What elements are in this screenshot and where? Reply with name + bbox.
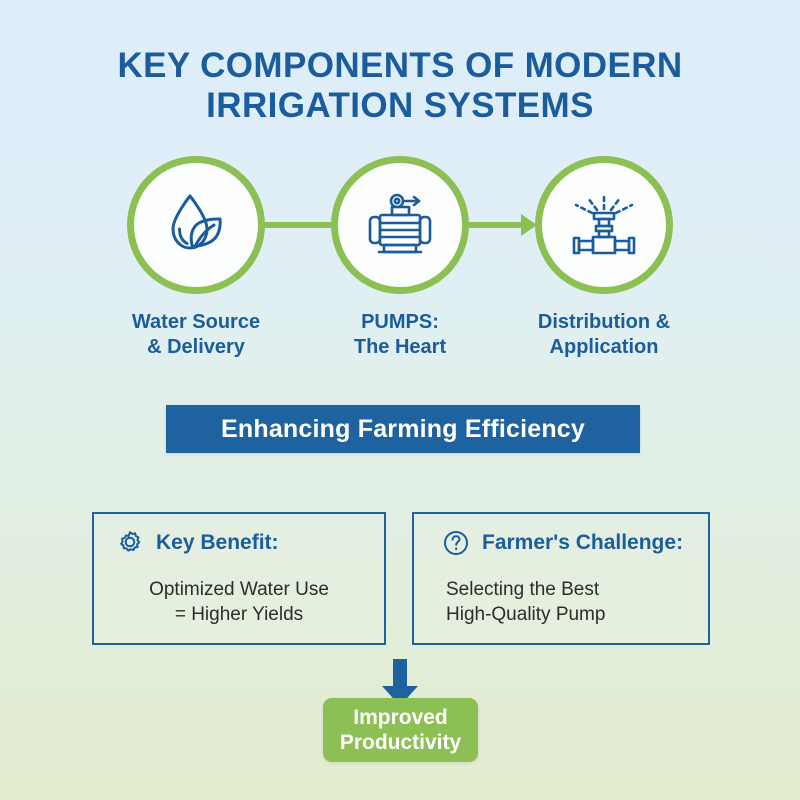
- flow-node-water-source[interactable]: [127, 156, 265, 294]
- flow-node-circle: [331, 156, 469, 294]
- page-title-line-1: KEY COMPONENTS OF MODERN: [0, 46, 800, 86]
- flow-node-pumps[interactable]: [331, 156, 469, 294]
- info-card-farmers-challenge: Farmer's Challenge: Selecting the Best H…: [412, 512, 710, 645]
- banner-text: Enhancing Farming Efficiency: [221, 415, 585, 444]
- flow-label-line-2: Application: [484, 335, 724, 360]
- card-body-line-2: High-Quality Pump: [446, 602, 708, 627]
- card-title: Key Benefit:: [156, 531, 279, 555]
- outcome-line-1: Improved: [353, 705, 448, 730]
- page-title-line-2: IRRIGATION SYSTEMS: [0, 86, 800, 126]
- question-mark-circle-icon: [442, 529, 470, 557]
- card-body-line-1: Optimized Water Use: [94, 577, 384, 602]
- card-body-line-1: Selecting the Best: [446, 577, 708, 602]
- gear-icon: [116, 529, 144, 557]
- flow-node-circle: [535, 156, 673, 294]
- outcome-line-2: Productivity: [340, 730, 461, 755]
- sprinkler-head-icon: [566, 189, 642, 261]
- infographic-canvas: KEY COMPONENTS OF MODERN IRRIGATION SYST…: [0, 0, 800, 800]
- card-body: Selecting the Best High-Quality Pump: [414, 577, 708, 627]
- connector-arrow-line: [467, 222, 525, 228]
- card-header: Farmer's Challenge:: [442, 529, 683, 557]
- card-body-line-2: = Higher Yields: [94, 602, 384, 627]
- outcome-improved-productivity: Improved Productivity: [323, 698, 478, 762]
- flow-node-circle: [127, 156, 265, 294]
- water-droplet-leaf-icon: [159, 188, 233, 262]
- card-header: Key Benefit:: [116, 529, 279, 557]
- info-card-key-benefit: Key Benefit: Optimized Water Use = Highe…: [92, 512, 386, 645]
- connector-line: [263, 222, 333, 228]
- flow-label-line-1: Distribution &: [484, 310, 724, 335]
- pump-motor-icon: [362, 188, 438, 262]
- flow-node-distribution[interactable]: [535, 156, 673, 294]
- flow-label-distribution: Distribution & Application: [484, 310, 724, 360]
- card-title: Farmer's Challenge:: [482, 531, 683, 555]
- card-body: Optimized Water Use = Higher Yields: [94, 577, 384, 627]
- process-flow-row: [0, 156, 800, 296]
- page-title: KEY COMPONENTS OF MODERN IRRIGATION SYST…: [0, 46, 800, 126]
- banner-enhancing-farming-efficiency: Enhancing Farming Efficiency: [166, 405, 640, 453]
